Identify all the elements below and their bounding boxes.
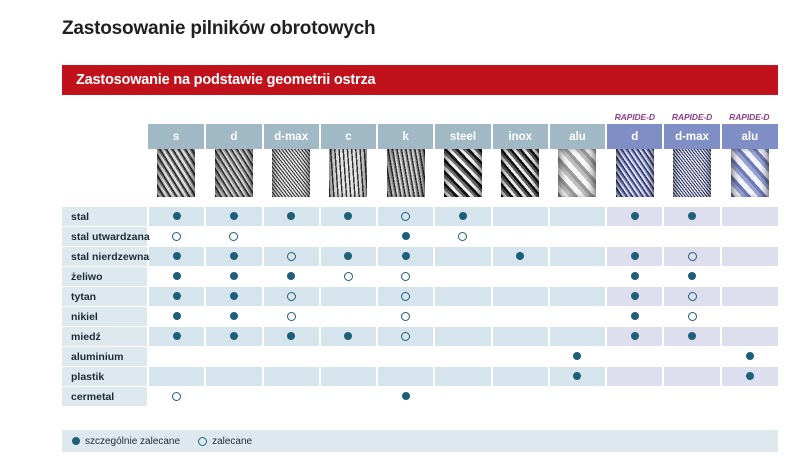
matrix-cell bbox=[434, 307, 491, 327]
open-dot-icon bbox=[172, 232, 181, 241]
matrix-cell bbox=[320, 347, 377, 367]
table-row: cermetal bbox=[62, 387, 778, 407]
matrix-cell bbox=[492, 267, 549, 287]
matrix-cell bbox=[263, 367, 320, 387]
matrix-cell bbox=[377, 307, 434, 327]
matrix-cell bbox=[549, 367, 606, 387]
matrix-cell bbox=[492, 227, 549, 247]
filled-dot-icon bbox=[287, 272, 295, 280]
table-row: stal utwardzana bbox=[62, 227, 778, 247]
filled-dot-icon bbox=[287, 332, 295, 340]
brand-tag: RAPIDE-D bbox=[663, 112, 720, 124]
row-label-1: stal utwardzana bbox=[62, 227, 148, 247]
open-dot-icon bbox=[172, 392, 181, 401]
matrix-cell bbox=[606, 347, 663, 367]
matrix-cell bbox=[205, 227, 262, 247]
column-header-inox-7[interactable]: inox bbox=[492, 124, 549, 149]
matrix-cell bbox=[721, 267, 778, 287]
brand-tag-cell: RAPIDE-D bbox=[606, 106, 663, 124]
matrix-cell bbox=[663, 347, 720, 367]
open-dot-icon bbox=[287, 292, 296, 301]
row-label-2: stal nierdzewna bbox=[62, 247, 148, 267]
matrix-cell bbox=[549, 387, 606, 407]
matrix-cell bbox=[263, 227, 320, 247]
filled-dot-icon bbox=[631, 312, 639, 320]
brand-tag-cell bbox=[549, 106, 606, 124]
matrix-cell bbox=[320, 207, 377, 227]
tool-image-corner-cell bbox=[62, 149, 148, 202]
column-header-s-1[interactable]: s bbox=[148, 124, 205, 149]
column-header-steel-6[interactable]: steel bbox=[434, 124, 491, 149]
brand-tag-cell bbox=[62, 106, 148, 124]
matrix-cell bbox=[721, 227, 778, 247]
header-corner-cell bbox=[62, 124, 148, 149]
filled-dot-icon bbox=[746, 372, 754, 380]
filled-dot-icon bbox=[173, 292, 181, 300]
matrix-cell bbox=[606, 387, 663, 407]
matrix-cell bbox=[205, 347, 262, 367]
row-label-9: cermetal bbox=[62, 387, 148, 407]
filled-dot-icon bbox=[230, 272, 238, 280]
filled-dot-icon bbox=[173, 312, 181, 320]
filled-dot-icon bbox=[688, 212, 696, 220]
matrix-cell bbox=[320, 267, 377, 287]
burr-cut-pattern-image bbox=[444, 149, 482, 197]
open-dot-icon bbox=[688, 312, 697, 321]
filled-dot-icon bbox=[173, 272, 181, 280]
open-dot-icon bbox=[458, 232, 467, 241]
column-header-d-max-10[interactable]: d-max bbox=[663, 124, 720, 149]
matrix-cell bbox=[492, 367, 549, 387]
table-row: aluminium bbox=[62, 347, 778, 367]
matrix-cell bbox=[549, 207, 606, 227]
matrix-cell bbox=[721, 287, 778, 307]
brand-tag-row: RAPIDE-DRAPIDE-DRAPIDE-D bbox=[62, 106, 778, 124]
open-dot-icon bbox=[287, 312, 296, 321]
column-header-alu-11[interactable]: alu bbox=[721, 124, 778, 149]
matrix-cell bbox=[320, 307, 377, 327]
burr-cut-pattern-image bbox=[387, 149, 425, 197]
matrix-cell bbox=[377, 287, 434, 307]
matrix-cell bbox=[205, 307, 262, 327]
filled-dot-icon bbox=[459, 212, 467, 220]
matrix-cell bbox=[663, 307, 720, 327]
matrix-cell bbox=[606, 307, 663, 327]
tool-image-cell bbox=[148, 149, 205, 202]
matrix-cell bbox=[377, 387, 434, 407]
matrix-cell bbox=[377, 347, 434, 367]
matrix-cell bbox=[205, 247, 262, 267]
burr-cut-pattern-image bbox=[215, 149, 253, 197]
filled-dot-icon bbox=[230, 332, 238, 340]
matrix-cell bbox=[434, 387, 491, 407]
matrix-cell bbox=[377, 207, 434, 227]
matrix-cell bbox=[434, 327, 491, 347]
matrix-cell bbox=[434, 207, 491, 227]
matrix-cell bbox=[492, 387, 549, 407]
matrix-cell bbox=[434, 367, 491, 387]
filled-dot-icon bbox=[746, 352, 754, 360]
matrix-cell bbox=[148, 367, 205, 387]
matrix-cell bbox=[663, 247, 720, 267]
table-row: stal bbox=[62, 207, 778, 227]
legend-item: szczególnie zalecane bbox=[72, 436, 180, 447]
matrix-cell bbox=[492, 347, 549, 367]
matrix-cell bbox=[263, 287, 320, 307]
matrix-cell bbox=[663, 227, 720, 247]
matrix-cell bbox=[320, 247, 377, 267]
matrix-cell bbox=[148, 307, 205, 327]
row-label-8: plastik bbox=[62, 367, 148, 387]
matrix-cell bbox=[434, 267, 491, 287]
filled-dot-icon bbox=[631, 252, 639, 260]
filled-dot-icon bbox=[230, 312, 238, 320]
matrix-cell bbox=[205, 207, 262, 227]
matrix-cell bbox=[148, 227, 205, 247]
filled-dot-icon bbox=[230, 252, 238, 260]
brand-tag-cell bbox=[377, 106, 434, 124]
brand-tag-cell: RAPIDE-D bbox=[663, 106, 720, 124]
brand-tag: RAPIDE-D bbox=[606, 112, 663, 124]
filled-dot-icon bbox=[72, 437, 80, 445]
matrix-cell bbox=[263, 347, 320, 367]
matrix-cell bbox=[663, 287, 720, 307]
open-dot-icon bbox=[344, 272, 353, 281]
matrix-cell bbox=[263, 307, 320, 327]
legend-item-label: szczególnie zalecane bbox=[85, 436, 180, 447]
matrix-cell bbox=[263, 247, 320, 267]
open-dot-icon bbox=[688, 252, 697, 261]
matrix-cell bbox=[377, 367, 434, 387]
open-dot-icon bbox=[688, 292, 697, 301]
open-dot-icon bbox=[401, 272, 410, 281]
matrix-cell bbox=[549, 307, 606, 327]
matrix-cell bbox=[148, 207, 205, 227]
matrix-cell bbox=[148, 247, 205, 267]
tool-image-cell bbox=[606, 149, 663, 202]
matrix-cell bbox=[549, 227, 606, 247]
row-label-6: miedź bbox=[62, 327, 148, 347]
matrix-cell bbox=[721, 247, 778, 267]
brand-tag-cell bbox=[205, 106, 262, 124]
matrix-cell bbox=[606, 267, 663, 287]
matrix-cell bbox=[549, 347, 606, 367]
table-row: nikiel bbox=[62, 307, 778, 327]
filled-dot-icon bbox=[573, 352, 581, 360]
filled-dot-icon bbox=[173, 332, 181, 340]
matrix-cell bbox=[205, 367, 262, 387]
matrix-cell bbox=[492, 327, 549, 347]
row-label-4: tytan bbox=[62, 287, 148, 307]
matrix-cell bbox=[549, 267, 606, 287]
matrix-cell bbox=[377, 327, 434, 347]
open-dot-icon bbox=[198, 437, 207, 446]
legend-item: zalecane bbox=[198, 436, 252, 447]
tool-image-cell bbox=[721, 149, 778, 202]
matrix-cell bbox=[377, 247, 434, 267]
open-dot-icon bbox=[401, 332, 410, 341]
open-dot-icon bbox=[229, 232, 238, 241]
matrix-cell bbox=[434, 227, 491, 247]
matrix-cell bbox=[606, 327, 663, 347]
column-header-row: sdd-maxcksteelinoxaludd-maxalu bbox=[62, 124, 778, 149]
legend: szczególnie zalecane zalecane bbox=[62, 430, 778, 452]
tool-image-cell bbox=[320, 149, 377, 202]
filled-dot-icon bbox=[173, 252, 181, 260]
row-label-0: stal bbox=[62, 207, 148, 227]
tool-image-cell bbox=[205, 149, 262, 202]
matrix-cell bbox=[721, 367, 778, 387]
matrix-cell bbox=[663, 207, 720, 227]
column-header-alu-8[interactable]: alu bbox=[549, 124, 606, 149]
matrix-cell bbox=[263, 207, 320, 227]
matrix-cell bbox=[148, 267, 205, 287]
filled-dot-icon bbox=[173, 212, 181, 220]
filled-dot-icon bbox=[287, 212, 295, 220]
matrix-cell bbox=[434, 287, 491, 307]
filled-dot-icon bbox=[688, 332, 696, 340]
filled-dot-icon bbox=[631, 272, 639, 280]
row-label-7: aluminium bbox=[62, 347, 148, 367]
burr-cut-pattern-image bbox=[501, 149, 539, 197]
matrix-cell bbox=[549, 327, 606, 347]
filled-dot-icon bbox=[573, 372, 581, 380]
tool-image-cell bbox=[434, 149, 491, 202]
brand-tag-cell: RAPIDE-D bbox=[721, 106, 778, 124]
filled-dot-icon bbox=[402, 252, 410, 260]
matrix-cell bbox=[663, 367, 720, 387]
open-dot-icon bbox=[401, 292, 410, 301]
matrix-cell bbox=[263, 387, 320, 407]
brand-tag-cell bbox=[263, 106, 320, 124]
column-header-c-4[interactable]: c bbox=[320, 124, 377, 149]
matrix-cell bbox=[721, 207, 778, 227]
filled-dot-icon bbox=[631, 332, 639, 340]
burr-cut-pattern-image bbox=[272, 149, 310, 197]
row-label-3: żeliwo bbox=[62, 267, 148, 287]
table-row: tytan bbox=[62, 287, 778, 307]
matrix-cell bbox=[320, 327, 377, 347]
matrix-cell bbox=[492, 287, 549, 307]
tool-image-row bbox=[62, 149, 778, 202]
matrix-cell bbox=[434, 247, 491, 267]
table-row: plastik bbox=[62, 367, 778, 387]
column-header-d-2[interactable]: d bbox=[205, 124, 262, 149]
legend-item-label: zalecane bbox=[212, 436, 252, 447]
section-banner-title: Zastosowanie na podstawie geometrii ostr… bbox=[76, 72, 375, 88]
matrix-cell bbox=[320, 387, 377, 407]
burr-cut-pattern-image bbox=[558, 149, 596, 197]
tool-image-cell bbox=[663, 149, 720, 202]
open-dot-icon bbox=[401, 312, 410, 321]
table-row: stal nierdzewna bbox=[62, 247, 778, 267]
matrix-cell bbox=[320, 287, 377, 307]
matrix-cell bbox=[205, 327, 262, 347]
burr-cut-pattern-image bbox=[616, 149, 654, 197]
filled-dot-icon bbox=[344, 212, 352, 220]
matrix-cell bbox=[721, 327, 778, 347]
matrix-cell bbox=[606, 247, 663, 267]
matrix-cell bbox=[663, 267, 720, 287]
open-dot-icon bbox=[401, 212, 410, 221]
section-banner: Zastosowanie na podstawie geometrii ostr… bbox=[62, 65, 778, 95]
column-header-d-max-3[interactable]: d-max bbox=[263, 124, 320, 149]
filled-dot-icon bbox=[631, 292, 639, 300]
page-title: Zastosowanie pilników obrotowych bbox=[62, 18, 375, 40]
filled-dot-icon bbox=[516, 252, 524, 260]
brand-tag-cell bbox=[320, 106, 377, 124]
open-dot-icon bbox=[287, 252, 296, 261]
filled-dot-icon bbox=[402, 392, 410, 400]
matrix-cell bbox=[606, 227, 663, 247]
tool-image-cell bbox=[492, 149, 549, 202]
burr-cut-pattern-image bbox=[673, 149, 711, 197]
matrix-cell bbox=[148, 387, 205, 407]
tool-image-cell bbox=[263, 149, 320, 202]
matrix-cell bbox=[205, 387, 262, 407]
filled-dot-icon bbox=[344, 252, 352, 260]
matrix-cell bbox=[721, 307, 778, 327]
matrix-cell bbox=[434, 347, 491, 367]
matrix-cell bbox=[148, 347, 205, 367]
matrix-cell bbox=[377, 227, 434, 247]
table-row: żeliwo bbox=[62, 267, 778, 287]
matrix-cell bbox=[377, 267, 434, 287]
matrix-cell bbox=[663, 327, 720, 347]
matrix-cell bbox=[549, 247, 606, 267]
matrix-cell bbox=[492, 207, 549, 227]
filled-dot-icon bbox=[631, 212, 639, 220]
filled-dot-icon bbox=[230, 292, 238, 300]
matrix-cell bbox=[721, 347, 778, 367]
matrix-cell bbox=[263, 267, 320, 287]
matrix-cell bbox=[320, 227, 377, 247]
matrix-cell bbox=[492, 247, 549, 267]
tool-image-cell bbox=[377, 149, 434, 202]
matrix-cell bbox=[663, 387, 720, 407]
matrix-cell bbox=[606, 367, 663, 387]
matrix-cell bbox=[320, 367, 377, 387]
matrix-cell bbox=[205, 267, 262, 287]
application-matrix: RAPIDE-DRAPIDE-DRAPIDE-Dsdd-maxcksteelin… bbox=[62, 106, 778, 407]
tool-image-cell bbox=[549, 149, 606, 202]
brand-tag-cell bbox=[148, 106, 205, 124]
matrix-cell bbox=[606, 287, 663, 307]
filled-dot-icon bbox=[230, 212, 238, 220]
burr-cut-pattern-image bbox=[157, 149, 195, 197]
matrix-cell bbox=[606, 207, 663, 227]
column-header-d-9[interactable]: d bbox=[606, 124, 663, 149]
brand-tag-cell bbox=[492, 106, 549, 124]
matrix-cell bbox=[549, 287, 606, 307]
matrix-cell bbox=[721, 387, 778, 407]
brand-tag-cell bbox=[434, 106, 491, 124]
filled-dot-icon bbox=[402, 232, 410, 240]
matrix-cell bbox=[148, 327, 205, 347]
matrix-cell bbox=[148, 287, 205, 307]
matrix-body: RAPIDE-DRAPIDE-DRAPIDE-Dsdd-maxcksteelin… bbox=[62, 106, 778, 407]
burr-cut-pattern-image bbox=[329, 149, 367, 197]
matrix-cell bbox=[205, 287, 262, 307]
column-header-k-5[interactable]: k bbox=[377, 124, 434, 149]
table-row: miedź bbox=[62, 327, 778, 347]
row-label-5: nikiel bbox=[62, 307, 148, 327]
filled-dot-icon bbox=[688, 272, 696, 280]
brand-tag: RAPIDE-D bbox=[721, 112, 778, 124]
matrix-table: RAPIDE-DRAPIDE-DRAPIDE-Dsdd-maxcksteelin… bbox=[62, 106, 778, 407]
burr-cut-pattern-image bbox=[731, 149, 769, 197]
matrix-cell bbox=[263, 327, 320, 347]
filled-dot-icon bbox=[344, 332, 352, 340]
matrix-cell bbox=[492, 307, 549, 327]
